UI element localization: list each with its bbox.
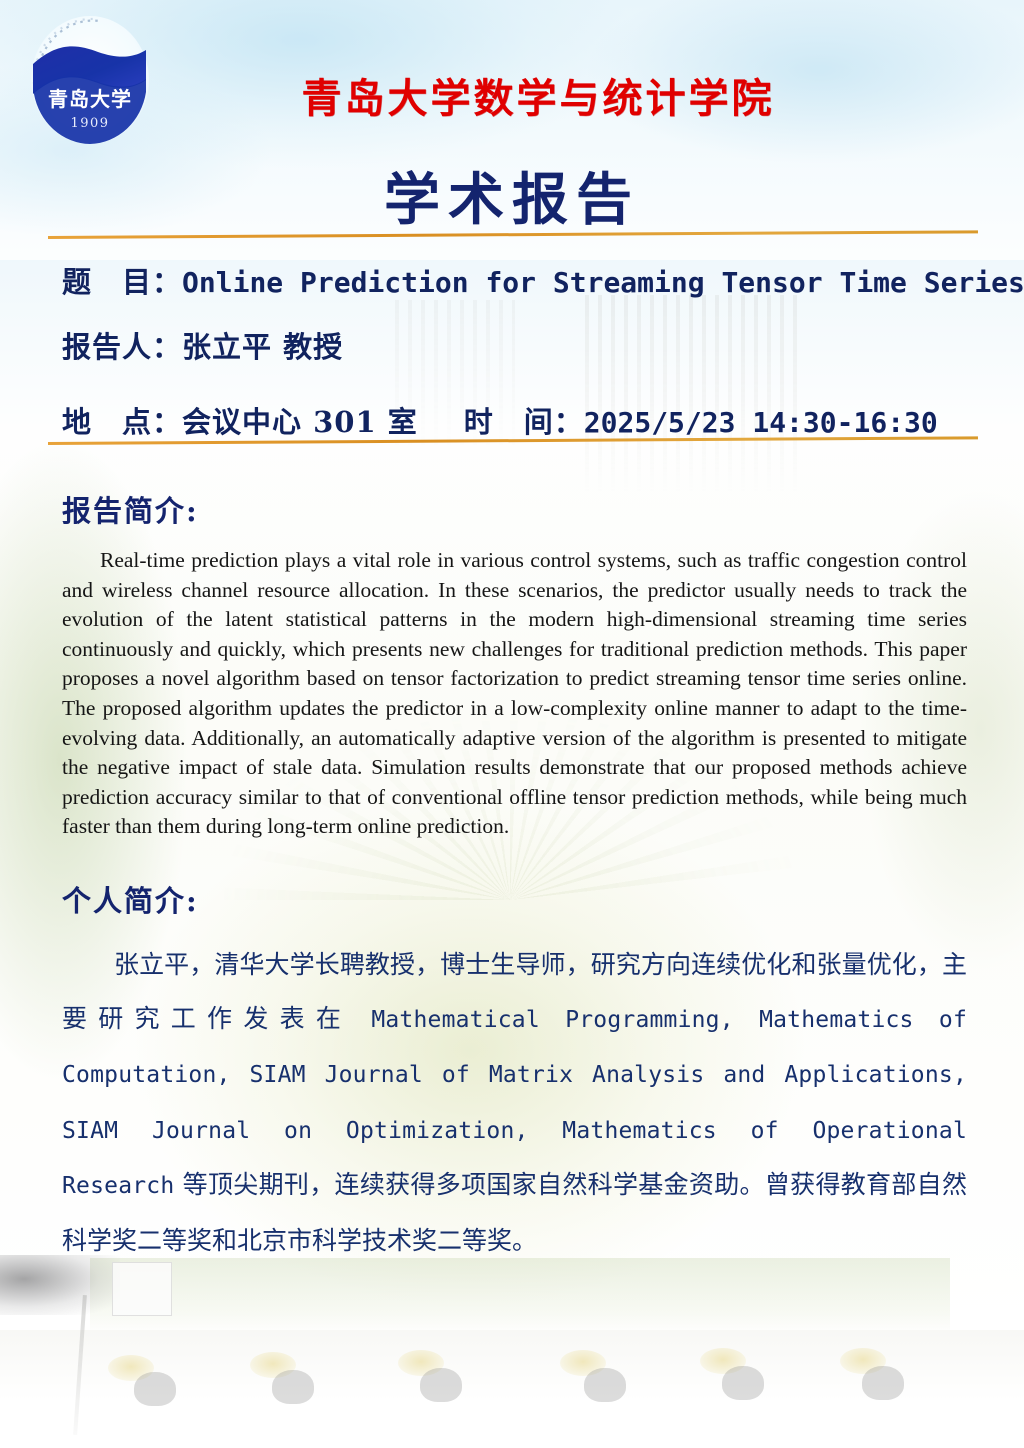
info-row-venue-time: 地 点：会议中心 301 室时 间：2025/5/23 14:30-16:30 (62, 399, 938, 441)
time-value: 2025/5/23 14:30-16:30 (584, 406, 938, 439)
venue-value: 会议中心 301 室 (182, 405, 418, 439)
abstract-heading: 报告简介: (62, 488, 199, 530)
background-planter-shadow (862, 1366, 904, 1400)
info-row-topic: 题 目：Online Prediction for Streaming Tens… (62, 259, 1024, 301)
organization-title: 青岛大学数学与统计学院 (0, 66, 1024, 124)
bio-text: 张立平，清华大学长聘教授，博士生导师，研究方向连续优化和张量优化，主要研究工作发… (62, 938, 967, 1267)
background-planter-shadow (420, 1368, 462, 1402)
background-planter-shadow (134, 1372, 176, 1406)
abstract-text: Real-time prediction plays a vital role … (62, 546, 967, 842)
background-planter-shadow (722, 1366, 764, 1400)
bio-heading: 个人简介: (62, 878, 199, 920)
poster-title: 学术报告 (0, 155, 1024, 236)
topic-value: Online Prediction for Streaming Tensor T… (182, 266, 1024, 299)
background-planter-shadow (584, 1368, 626, 1402)
speaker-label: 报告人： (62, 330, 182, 364)
bio-text-part2: 等顶尖期刊，连续获得多项国家自然科学基金资助。曾获得教育部自然科学奖二等奖和北京… (62, 1170, 967, 1255)
background-lawn-strip (90, 1258, 950, 1336)
topic-label: 题 目： (62, 265, 182, 299)
venue-label: 地 点： (62, 405, 182, 439)
speaker-value: 张立平 教授 (182, 330, 343, 364)
background-notice-board (112, 1262, 172, 1316)
time-label: 时 间： (464, 405, 584, 439)
seminar-poster: 青岛大学 1909 青岛大学数学与统计学院 学术报告 题 目：Online Pr… (0, 0, 1024, 1448)
info-row-speaker: 报告人：张立平 教授 (62, 324, 343, 366)
background-planter-shadow (272, 1370, 314, 1404)
